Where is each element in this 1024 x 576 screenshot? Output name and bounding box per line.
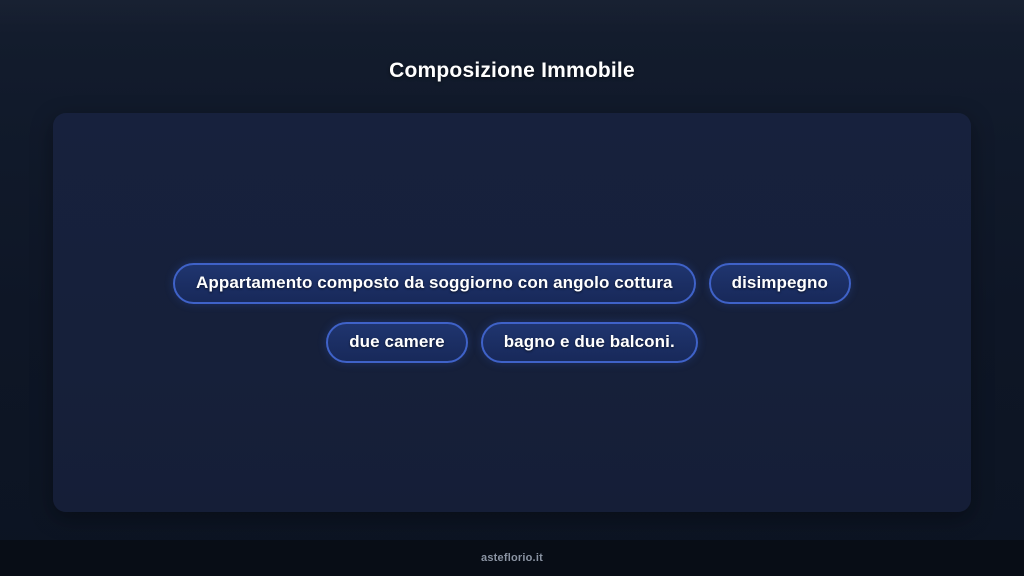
chip-item[interactable]: disimpegno [709,263,851,304]
chip-row: Appartamento composto da soggiorno con a… [173,263,851,304]
chip-row: due camere bagno e due balconi. [326,322,698,363]
page-title: Composizione Immobile [389,59,635,83]
footer-bar: asteflorio.it [0,540,1024,576]
chip-group: Appartamento composto da soggiorno con a… [53,263,971,363]
chip-item[interactable]: bagno e due balconi. [481,322,698,363]
slide-root: Composizione Immobile Appartamento compo… [0,0,1024,576]
chip-item[interactable]: Appartamento composto da soggiorno con a… [173,263,696,304]
chip-item[interactable]: due camere [326,322,468,363]
content-card: Appartamento composto da soggiorno con a… [53,113,971,512]
footer-site-label: asteflorio.it [481,552,543,564]
